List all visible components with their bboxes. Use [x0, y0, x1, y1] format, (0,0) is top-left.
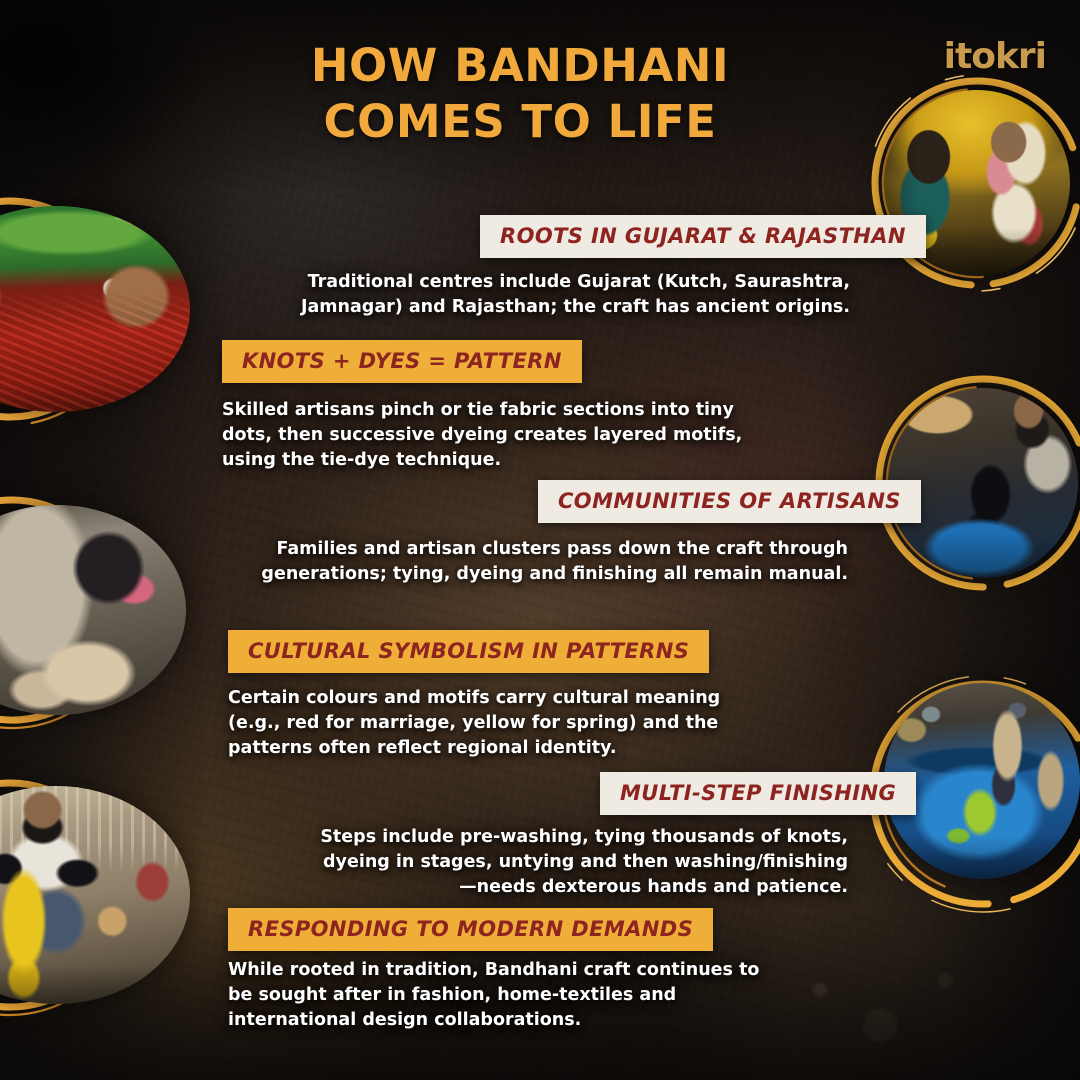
section-body-knots-dyes: Skilled artisans pinch or tie fabric sec…	[222, 398, 762, 473]
section-heading-communities: COMMUNITIES OF ARTISANS	[538, 480, 921, 523]
section-body-symbolism: Certain colours and motifs carry cultura…	[228, 686, 773, 761]
section-body-roots: Traditional centres include Gujarat (Kut…	[270, 270, 850, 320]
section-heading-modern-demands: RESPONDING TO MODERN DEMANDS	[228, 908, 713, 951]
page-title-line-1: HOW BANDHANI	[150, 38, 890, 94]
brand-logo-text: itokri	[944, 36, 1046, 77]
infographic-canvas: itokri HOW BANDHANI COMES TO LIFE	[0, 0, 1080, 1080]
section-body-communities: Families and artisan clusters pass down …	[248, 537, 848, 587]
photo-hands-tying-red	[0, 206, 190, 412]
section-heading-symbolism: CULTURAL SYMBOLISM IN PATTERNS	[228, 630, 709, 673]
photo-dyeing-yellow-cloth	[0, 786, 190, 1004]
page-title-line-2: COMES TO LIFE	[150, 94, 890, 150]
section-heading-roots: ROOTS IN GUJARAT & RAJASTHAN	[480, 215, 926, 258]
section-body-modern-demands: While rooted in tradition, Bandhani craf…	[228, 958, 788, 1033]
section-heading-finishing: MULTI-STEP FINISHING	[600, 772, 916, 815]
page-title: HOW BANDHANI COMES TO LIFE	[0, 38, 1080, 150]
section-heading-knots-dyes: KNOTS + DYES = PATTERN	[222, 340, 582, 383]
photo-women-tying-cream	[0, 505, 186, 715]
brand-logo[interactable]: itokri	[944, 36, 1046, 77]
section-body-finishing: Steps include pre-washing, tying thousan…	[318, 825, 848, 900]
